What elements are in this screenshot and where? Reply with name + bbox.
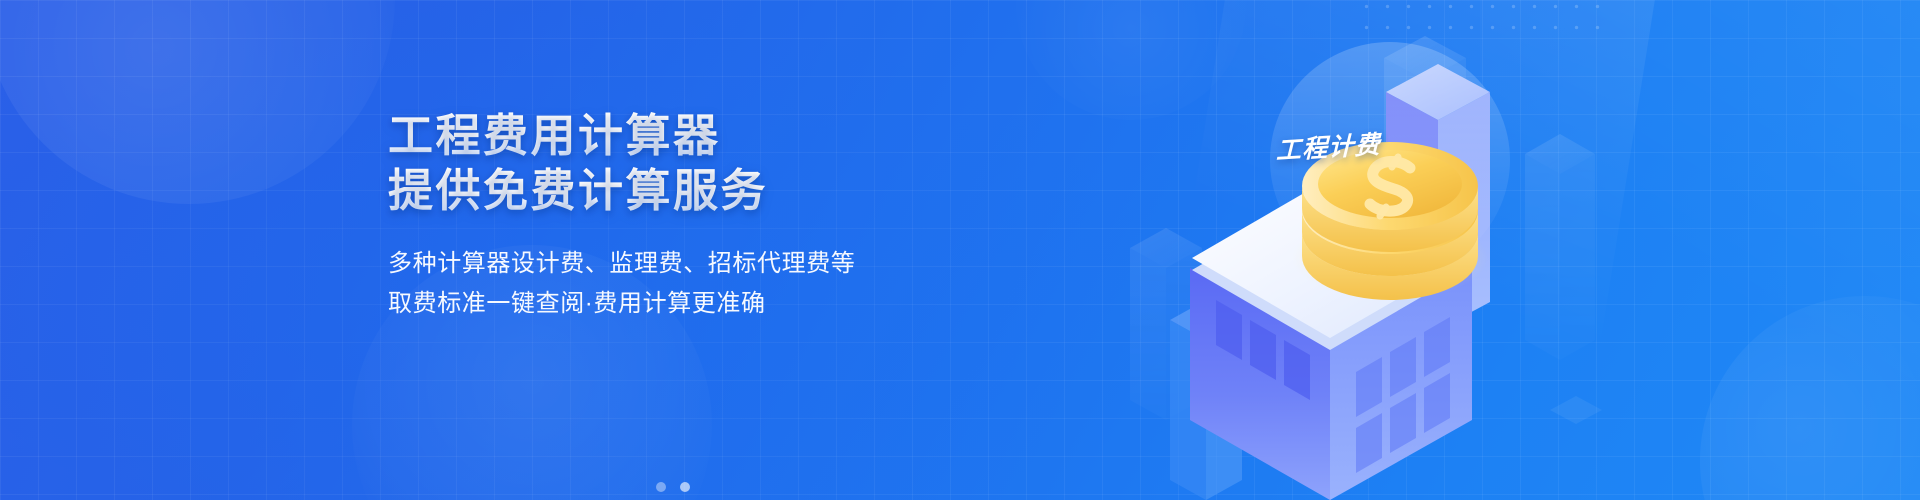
headline-group: 工程费用计算器 提供免费计算服务 xyxy=(388,108,948,218)
carousel-dot-1[interactable] xyxy=(656,482,666,492)
carousel-dot-2[interactable] xyxy=(680,482,690,492)
banner-copy-block: 工程费用计算器 提供免费计算服务 多种计算器设计费、监理费、招标代理费等 取费标… xyxy=(388,108,948,324)
carousel-pagination[interactable] xyxy=(656,482,690,492)
description-line-2: 取费标准一键查阅·费用计算更准确 xyxy=(388,284,948,324)
isometric-city-coin-illustration xyxy=(1090,0,1650,500)
illustration-label: 工程计费 xyxy=(1276,125,1381,167)
coin-stack xyxy=(1292,142,1488,300)
headline-line-2: 提供免费计算服务 xyxy=(388,163,948,218)
foreground-accent-shapes xyxy=(1550,396,1602,424)
decorative-circle-top-left xyxy=(0,0,395,204)
hero-banner: 工程费用计算器 提供免费计算服务 多种计算器设计费、监理费、招标代理费等 取费标… xyxy=(0,0,1920,500)
background-bar-far-right xyxy=(1525,134,1595,360)
headline-line-1: 工程费用计算器 xyxy=(388,108,948,163)
hero-illustration: 工程计费 xyxy=(1090,0,1650,500)
decorative-circle-bottom-right xyxy=(1700,296,1920,500)
description-line-1: 多种计算器设计费、监理费、招标代理费等 xyxy=(388,244,948,284)
